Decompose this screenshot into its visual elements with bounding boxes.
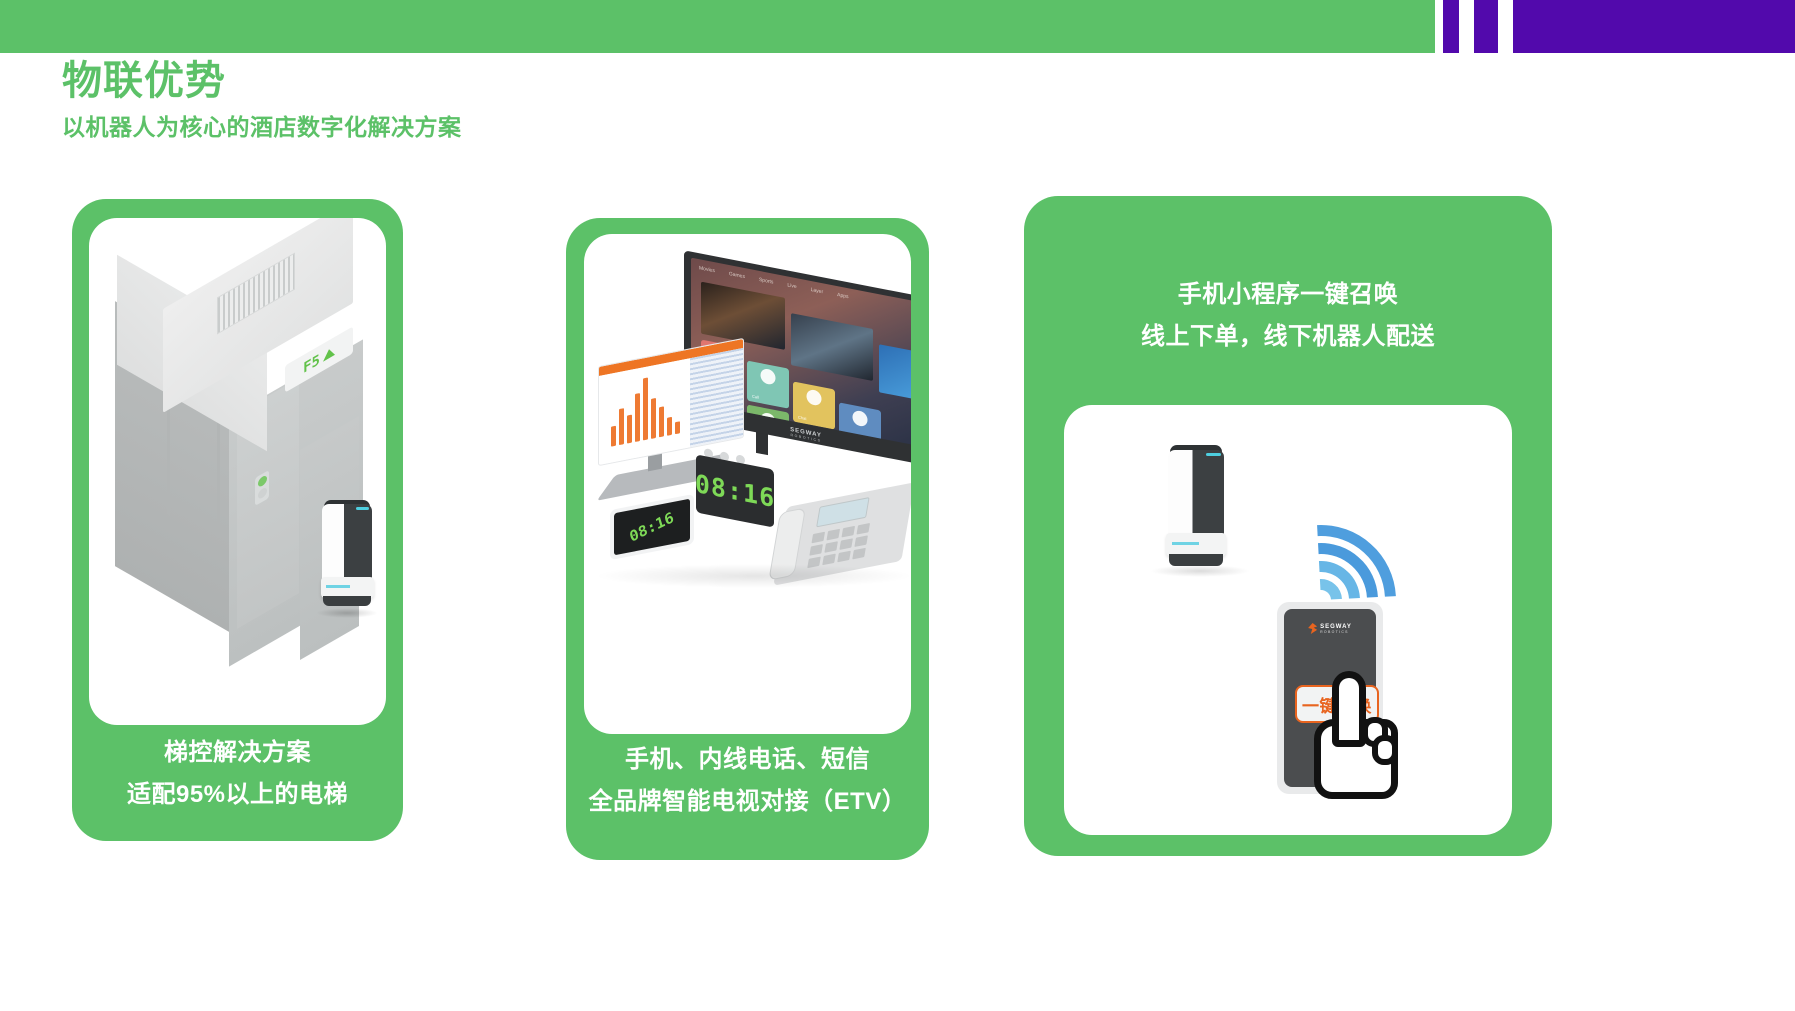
card-devices-caption-line2: 全品牌智能电视对接（ETV） (566, 781, 929, 823)
hand-index-finger (1332, 671, 1366, 747)
card-elevator-caption-line2: 适配95%以上的电梯 (72, 774, 403, 816)
chart-bar (635, 393, 640, 442)
elevator-graphic: F5 (109, 246, 379, 676)
tv-app-icon (807, 389, 822, 407)
summon-illustration: SEGWAY ROBOTICS 一键召唤 (1064, 405, 1512, 835)
card-devices-caption-line1: 手机、内线电话、短信 (566, 739, 929, 781)
tv-nav-item: Live (787, 282, 796, 290)
desk-shadow (594, 564, 911, 588)
tv-nav-item: Sports (759, 277, 773, 286)
clock-time-display: 08:16 (695, 469, 775, 514)
landline-keypad[interactable] (807, 523, 870, 568)
chart-bar (667, 417, 672, 436)
smartphone-screen: 08:16 (614, 499, 690, 556)
card-elevator-control[interactable]: F5 (72, 199, 403, 841)
digital-clock: 08:16 (696, 454, 774, 527)
chart-bar (675, 421, 680, 434)
landline-key[interactable] (841, 526, 855, 538)
chart-bar (627, 415, 632, 444)
card-summon-caption-line2: 线上下单，线下机器人配送 (1024, 316, 1552, 358)
tv-featured-poster (791, 313, 873, 381)
chart-bar (619, 408, 624, 445)
card-summon-illustration-panel: SEGWAY ROBOTICS 一键召唤 (1064, 405, 1512, 835)
chart-bar (651, 398, 656, 439)
tv-app-tile: Chat (793, 381, 835, 429)
card-elevator-caption-line1: 梯控解决方案 (72, 732, 403, 774)
landline-key[interactable] (839, 538, 853, 550)
delivery-robot (1168, 450, 1224, 568)
smartphone: 08:16 (610, 494, 694, 560)
elevator-illustration: F5 (89, 218, 386, 725)
tv-nav-item: Layer (811, 287, 824, 295)
chart-bar (611, 426, 616, 447)
landline-key[interactable] (852, 548, 866, 560)
tv-app-label: Chat (798, 414, 806, 421)
hand-knuckle (1372, 735, 1398, 765)
landline-key[interactable] (856, 523, 870, 535)
tv-nav-item: Games (729, 271, 745, 280)
elevator-up-arrow-icon (323, 346, 335, 362)
robot-body (322, 504, 372, 581)
card-summon-caption-line1: 手机小程序一键召唤 (1024, 274, 1552, 316)
tv-app-label: Media (844, 435, 855, 442)
tv-app-label: Call (752, 394, 759, 400)
tv-app-icon (853, 410, 868, 428)
card-mini-program-summon[interactable]: 手机小程序一键召唤 线上下单，线下机器人配送 (1024, 196, 1552, 856)
tv-app-tile: Media (839, 402, 881, 446)
tv-nav-item: Apps (837, 292, 848, 300)
tv-nav-item: Movies (699, 265, 715, 274)
tv-app-icon (761, 368, 776, 386)
segway-mark-icon (1308, 623, 1317, 634)
feature-card-grid: F5 (0, 0, 1795, 1011)
landline-lcd-display (816, 497, 870, 527)
robot-base (1166, 533, 1225, 557)
devices-illustration: Movies Games Sports Live Layer Apps (584, 234, 911, 734)
monitor-text-pane (690, 348, 743, 448)
tv-brand-logo: SEGWAY ROBOTICS (790, 427, 822, 443)
elevator-up-button-icon[interactable] (258, 474, 267, 488)
robot-body (1168, 450, 1224, 537)
card-multi-channel-calling[interactable]: Movies Games Sports Live Layer Apps (566, 218, 929, 860)
landline-key[interactable] (809, 544, 823, 556)
delivery-robot (322, 504, 372, 608)
card-devices-illustration-panel: Movies Games Sports Live Layer Apps (584, 234, 911, 734)
tv-app-icon (761, 412, 776, 430)
pointing-hand-cursor-icon (1310, 673, 1406, 801)
robot-base-led (326, 585, 350, 588)
chart-bar (659, 406, 664, 437)
robot-shadow (316, 608, 378, 618)
card-summon-caption: 手机小程序一键召唤 线上下单，线下机器人配送 (1024, 274, 1552, 358)
landline-key[interactable] (854, 535, 868, 547)
landline-key[interactable] (826, 529, 840, 541)
card-elevator-illustration-panel: F5 (89, 218, 386, 725)
segway-robotics-logo: SEGWAY ROBOTICS (1308, 623, 1352, 634)
desktop-monitor: Hotel PMS (598, 338, 744, 466)
robot-light-strip (356, 507, 369, 510)
segway-brand-name: SEGWAY (1320, 624, 1352, 630)
segway-brand-sub: ROBOTICS (1320, 630, 1352, 634)
landline-key[interactable] (837, 551, 851, 563)
elevator-floor-number: F5 (303, 351, 320, 377)
robot-wheels (1169, 554, 1223, 566)
robot-base-led (1172, 542, 1199, 545)
robot-light-strip (1206, 453, 1221, 456)
segway-wordmark: SEGWAY ROBOTICS (1320, 624, 1352, 634)
elevator-down-button-icon[interactable] (258, 486, 267, 500)
chart-bar (643, 377, 648, 440)
card-elevator-caption: 梯控解决方案 适配95%以上的电梯 (72, 732, 403, 816)
smartphone-time-display: 08:16 (628, 508, 676, 545)
robot-base (321, 577, 374, 598)
tv-featured-poster (879, 344, 911, 401)
card-devices-caption: 手机、内线电话、短信 全品牌智能电视对接（ETV） (566, 739, 929, 823)
tv-app-tile: Call (747, 361, 789, 409)
tv-app-tile: Gallery (747, 405, 789, 447)
landline-key[interactable] (824, 541, 838, 553)
landline-key[interactable] (811, 532, 825, 544)
robot-wheels (323, 596, 371, 606)
